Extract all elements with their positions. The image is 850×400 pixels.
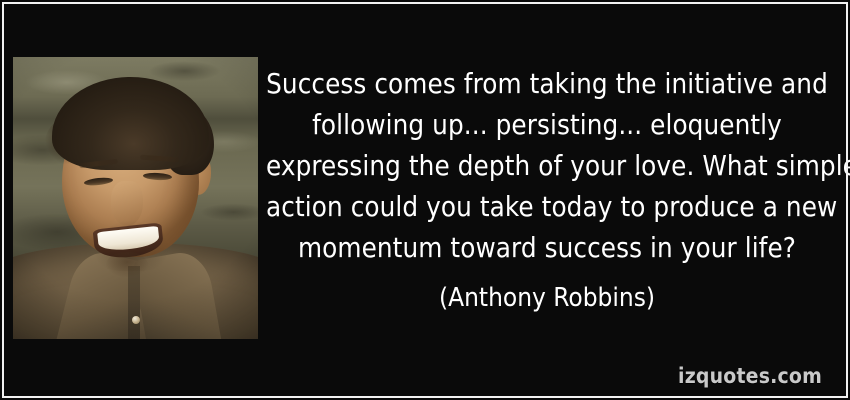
quote-text-block: Success comes from taking the initiative… (266, 64, 828, 269)
quote-image-canvas: Success comes from taking the initiative… (0, 0, 850, 400)
quote-line: expressing the depth of your love. What … (266, 146, 828, 187)
quote-line: momentum toward success in your life? (266, 228, 828, 269)
quote-attribution: (Anthony Robbins) (266, 281, 828, 315)
site-watermark: izquotes.com (678, 364, 822, 388)
photo-vignette (13, 57, 258, 339)
author-portrait-photo (13, 57, 258, 339)
quote-line: action could you take today to produce a… (266, 187, 828, 228)
quote-line: Success comes from taking the initiative… (266, 64, 828, 105)
quote-line: following up... persisting... eloquently (266, 105, 828, 146)
